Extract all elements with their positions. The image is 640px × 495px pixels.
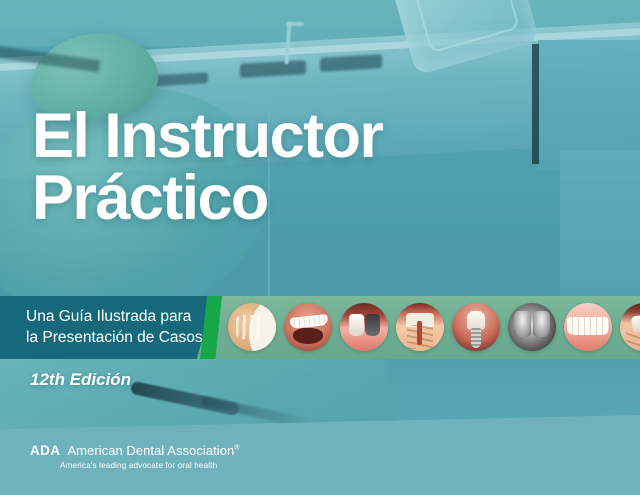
ada-org-text: American Dental Association — [67, 443, 234, 458]
implant-screw — [471, 328, 481, 348]
ada-abbreviation: ADA — [30, 443, 60, 458]
healthy-gums-thumb — [564, 303, 612, 351]
title-line-2: Práctico — [32, 168, 382, 230]
smile-intraoral-thumb — [284, 303, 332, 351]
title-line-1: El Instructor — [32, 106, 382, 168]
subtitle-line-2: la Presentación de Casos — [26, 327, 203, 348]
book-cover: El Instructor Práctico Una Guía Ilustrad… — [0, 0, 640, 495]
gum-tissue — [340, 334, 388, 351]
subtitle: Una Guía Ilustrada para la Presentación … — [26, 306, 203, 349]
registered-trademark-icon: ® — [234, 445, 239, 452]
posterior-teeth — [631, 313, 640, 332]
natural-tooth — [349, 314, 364, 336]
ada-logo: ADA American Dental Association® America… — [30, 443, 240, 470]
subtitle-line-1: Una Guía Ilustrada para — [26, 306, 203, 327]
open-mouth — [293, 328, 323, 344]
dental-implant-thumb — [452, 303, 500, 351]
crown-restoration-thumb — [340, 303, 388, 351]
lower-gumline — [564, 333, 612, 351]
bone-structure — [626, 331, 640, 349]
teeth-row — [290, 314, 329, 329]
radiograph-molar — [533, 311, 550, 337]
ada-organization-name: American Dental Association® — [67, 443, 239, 458]
thumbnail-strip — [228, 303, 640, 351]
pulp-chamber — [417, 321, 422, 345]
ada-logo-row: ADA American Dental Association® — [30, 443, 240, 458]
periodontal-bone-thumb — [620, 303, 640, 351]
teeth-row — [567, 317, 609, 335]
cast-markings — [236, 315, 262, 339]
tooth-cross-section-thumb — [396, 303, 444, 351]
radiograph-molar — [514, 311, 531, 337]
bitewing-radiograph-thumb — [508, 303, 556, 351]
page-title: El Instructor Práctico — [32, 106, 382, 229]
dental-stone-cast-thumb — [228, 303, 276, 351]
edition-label: 12th Edición — [30, 370, 131, 390]
metal-crown — [365, 314, 380, 336]
ada-tagline: America's leading advocate for oral heal… — [60, 461, 240, 470]
